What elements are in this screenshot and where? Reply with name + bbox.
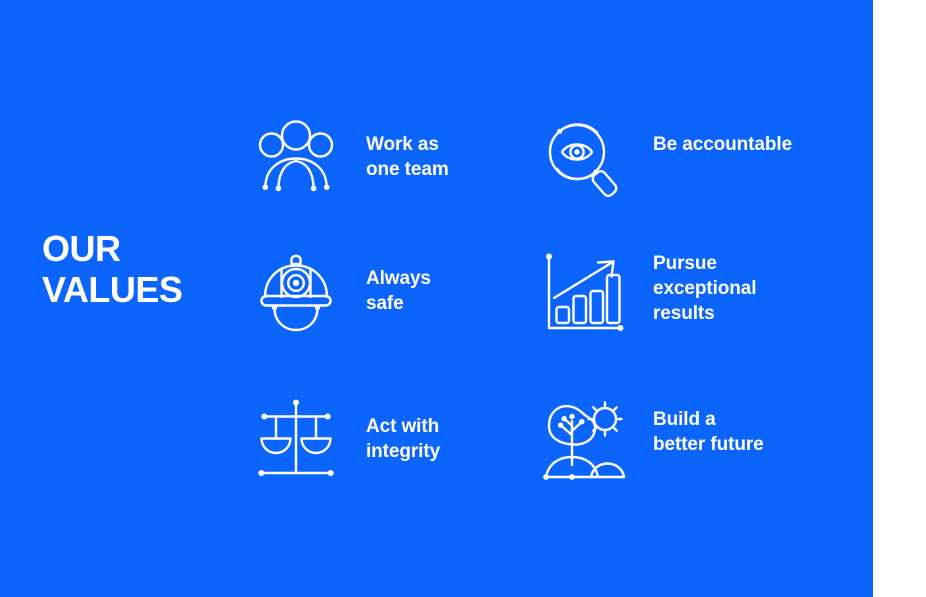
- hard-hat-icon: [248, 245, 344, 341]
- page-title: OUR VALUES: [42, 228, 232, 310]
- value-label-pursue-exceptional-results: Pursue exceptional results: [653, 245, 756, 326]
- page-title-line-2: VALUES: [42, 269, 232, 310]
- team-icon: [248, 110, 344, 206]
- balance-scales-icon: [248, 393, 344, 489]
- value-item-be-accountable: Be accountable: [535, 110, 792, 206]
- value-label-always-safe: Always safe: [366, 245, 431, 316]
- values-grid: Work as one team Be accountable: [248, 110, 858, 510]
- magnifier-eye-icon: [535, 110, 631, 206]
- value-item-pursue-exceptional-results: Pursue exceptional results: [535, 245, 756, 341]
- tree-sun-icon: [535, 393, 631, 489]
- value-item-work-as-one-team: Work as one team: [248, 110, 449, 206]
- bar-chart-growth-icon: [535, 245, 631, 341]
- slide-canvas: OUR VALUES Work as one team: [0, 0, 926, 597]
- value-item-build-a-better-future: Build a better future: [535, 393, 764, 489]
- value-label-work-as-one-team: Work as one team: [366, 110, 449, 182]
- value-label-be-accountable: Be accountable: [653, 110, 792, 157]
- value-item-always-safe: Always safe: [248, 245, 431, 341]
- value-label-act-with-integrity: Act with integrity: [366, 393, 440, 464]
- page-title-line-1: OUR: [42, 228, 232, 269]
- value-item-act-with-integrity: Act with integrity: [248, 393, 440, 489]
- value-label-build-a-better-future: Build a better future: [653, 393, 764, 457]
